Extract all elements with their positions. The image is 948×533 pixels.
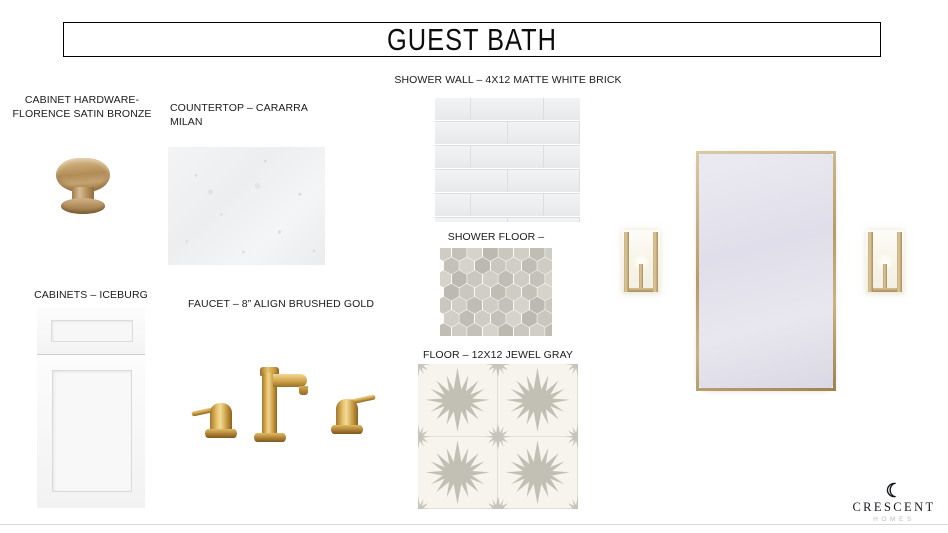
cabinet-door-panel: [52, 370, 132, 492]
hex-tile: [452, 270, 467, 287]
brand-name: CRESCENT: [848, 500, 940, 515]
hex-tile: [530, 297, 545, 314]
tile: [471, 146, 544, 168]
hex-tile: [467, 297, 482, 314]
star-motif: [426, 440, 490, 504]
floor-tile-cell: [418, 364, 498, 437]
crescent-moon-icon: ☾: [848, 484, 940, 500]
hex-tile: [498, 270, 513, 287]
sconce-rail-right-b: [897, 232, 902, 292]
star-motif: [506, 440, 570, 504]
hex-tile: [537, 257, 552, 274]
floor-tile-cell: [498, 437, 578, 510]
cabinet-drawer-panel: [51, 320, 133, 342]
hex-tile: [522, 257, 537, 274]
hex-tile: [444, 257, 459, 274]
label-cabinet-hardware: CABINET HARDWARE- FLORENCE SATIN BRONZE: [8, 94, 156, 121]
tile: [508, 122, 581, 144]
hex-tile: [537, 310, 552, 327]
label-floor: FLOOR – 12X12 JEWEL GRAY: [408, 349, 588, 363]
hex-tile: [506, 257, 521, 274]
label-faucet: FAUCET – 8” ALIGN BRUSHED GOLD: [185, 298, 377, 312]
label-shower-floor: SHOWER FLOOR –: [426, 231, 566, 245]
swatch-cabinet-door: [37, 308, 145, 508]
swatch-faucet: [190, 355, 370, 455]
hex-tile: [475, 310, 490, 327]
hex-tile: [459, 310, 474, 327]
cabinet-drawer: [37, 308, 145, 355]
hex-tile: [491, 310, 506, 327]
page-title: GUEST BATH: [137, 23, 806, 56]
sconce-rail-left-b: [653, 232, 658, 292]
tile: [508, 218, 581, 222]
hex-tile: [491, 284, 506, 301]
mirror-glass: [699, 154, 833, 388]
swatch-countertop-slab: [168, 147, 325, 265]
brand-logo: ☾ CRESCENT HOMES: [848, 484, 940, 524]
hex-tile: [514, 270, 529, 287]
faucet-spout-base: [254, 433, 286, 442]
faucet-handle-base-right: [331, 425, 363, 434]
faucet-handle-base-left: [205, 429, 237, 438]
knob-base: [61, 198, 105, 214]
floor-tile-cell: [418, 437, 498, 510]
swatch-cabinet-hardware-knob: [48, 150, 118, 222]
star-motif: [426, 368, 490, 432]
swatch-shower-wall-tile: [435, 98, 580, 222]
hex-tile: [475, 257, 490, 274]
hex-tile: [537, 284, 552, 301]
tile: [508, 170, 581, 192]
tile: [435, 218, 508, 222]
tile: [544, 98, 580, 120]
label-shower-wall: SHOWER WALL – 4X12 MATTE WHITE BRICK: [383, 74, 633, 88]
hex-tile: [530, 270, 545, 287]
hex-tile: [483, 297, 498, 314]
faucet-handle-body-right: [336, 399, 358, 427]
tile: [471, 98, 544, 120]
faucet-handle-left: [192, 389, 240, 441]
tile-row: [435, 218, 580, 222]
hex-tile: [514, 297, 529, 314]
tile-row: [435, 146, 580, 170]
hex-tile: [522, 284, 537, 301]
hex-tile: [483, 270, 498, 287]
swatch-sconce-left: [622, 230, 660, 294]
hex-tile: [444, 284, 459, 301]
label-countertop: COUNTERTOP – CARARRA MILAN: [170, 102, 330, 129]
floor-tile-cell: [498, 364, 578, 437]
tile: [435, 98, 471, 120]
hex-tile: [498, 297, 513, 314]
sconce-rail-right-a: [868, 232, 873, 292]
sconce-stem-left: [639, 264, 643, 291]
faucet-handle-body-left: [210, 403, 232, 431]
sconce-foot-right: [873, 288, 897, 292]
hex-tile: [506, 284, 521, 301]
swatch-sconce-right: [866, 230, 904, 294]
swatch-floor-star-tile: [418, 364, 578, 509]
tile-row: [435, 122, 580, 146]
tile-row: [435, 194, 580, 218]
hex-tile: [506, 310, 521, 327]
swatch-mirror: [696, 151, 836, 391]
slide-bottom-rule: [0, 524, 948, 525]
hex-tile: [491, 257, 506, 274]
tile-row: [435, 170, 580, 194]
sconce-foot-left: [629, 288, 653, 292]
tile: [544, 146, 580, 168]
hex-tile: [459, 257, 474, 274]
tile: [544, 194, 580, 216]
hex-tile: [452, 297, 467, 314]
tile: [435, 146, 471, 168]
swatch-shower-floor-hex: [440, 248, 552, 336]
tile: [471, 194, 544, 216]
hex-tile: [475, 284, 490, 301]
hex-tile: [444, 310, 459, 327]
brand-tagline: HOMES: [848, 515, 940, 524]
tile: [435, 170, 508, 192]
hex-tile: [459, 284, 474, 301]
tile: [435, 122, 508, 144]
tile: [435, 194, 471, 216]
star-motif: [506, 368, 570, 432]
sconce-rail-left-a: [624, 232, 629, 292]
tile-row: [435, 98, 580, 122]
faucet-spout-arm: [273, 374, 307, 387]
design-board: GUEST BATH CABINET HARDWARE- FLORENCE SA…: [0, 0, 948, 533]
sconce-stem-right: [883, 264, 887, 291]
board-title-box: GUEST BATH: [63, 22, 881, 57]
cabinet-door-front: [37, 355, 145, 508]
faucet-handle-right: [318, 385, 366, 437]
hex-tile: [522, 310, 537, 327]
hex-tile: [467, 270, 482, 287]
label-cabinets: CABINETS – ICEBURG: [16, 289, 166, 303]
